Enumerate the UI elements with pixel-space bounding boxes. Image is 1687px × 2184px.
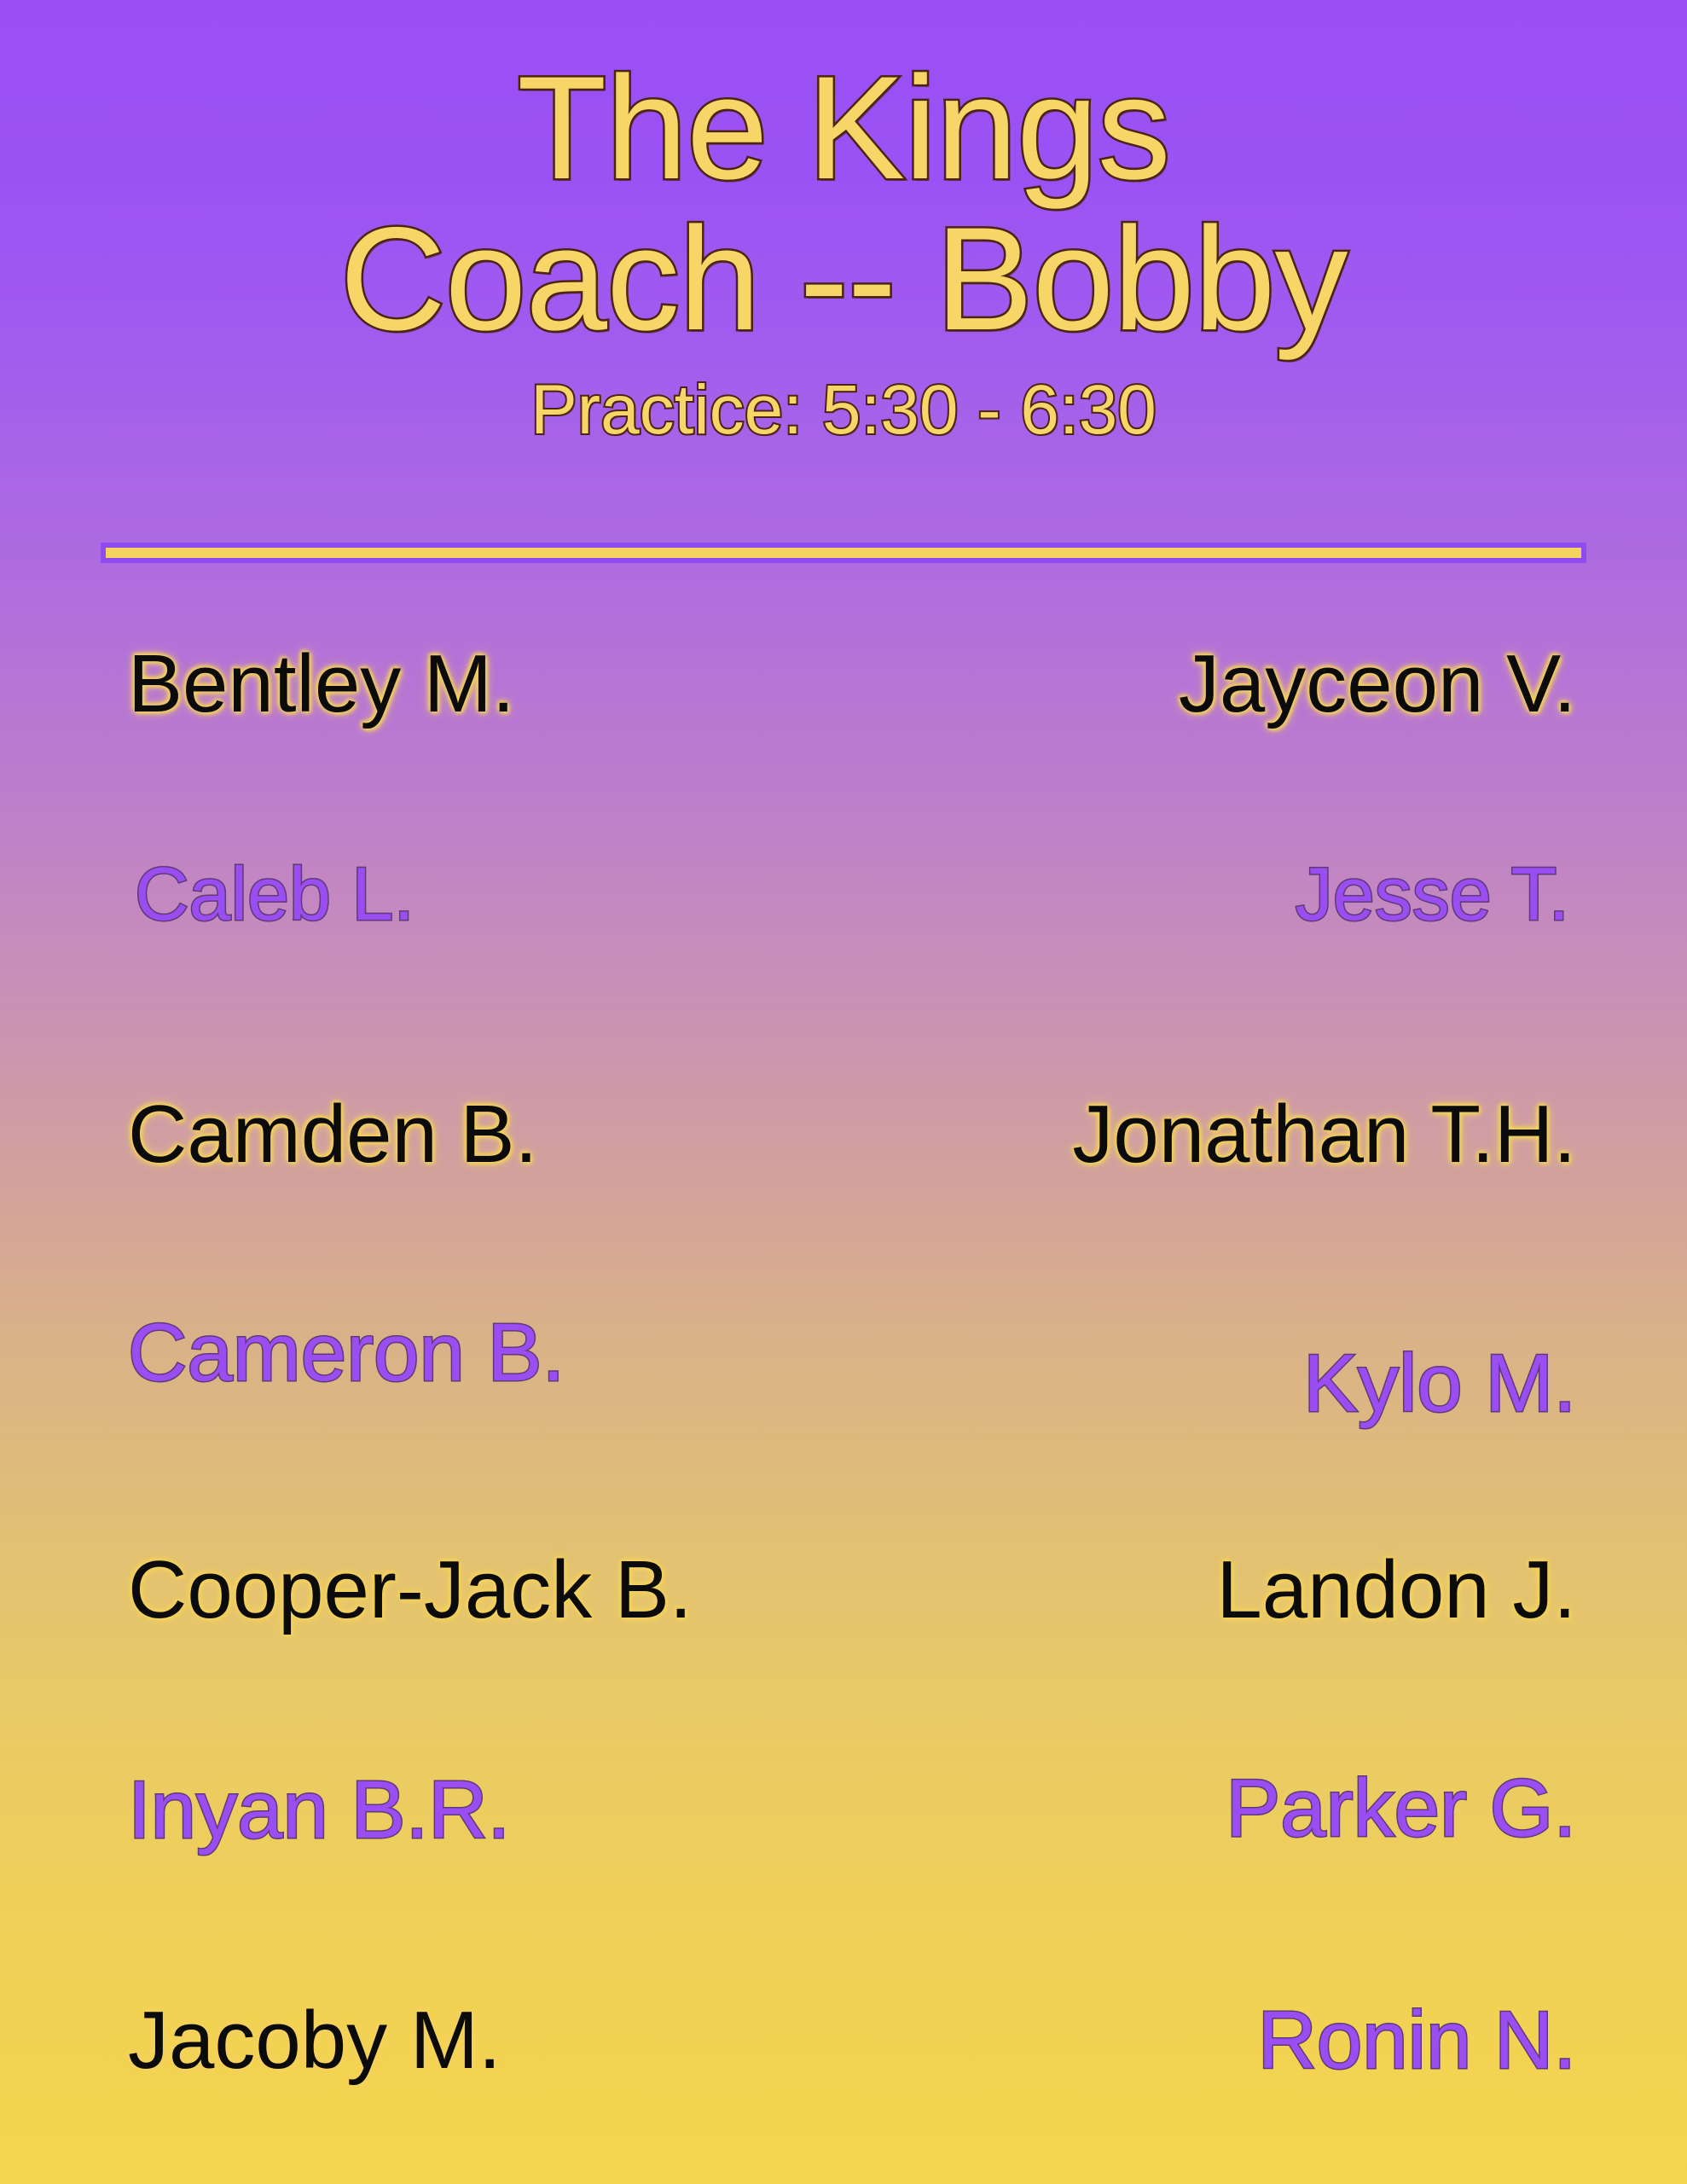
roster-name-right: Jayceon V. [1179,643,1576,725]
table-row: Cameron B. Kylo M. [0,1283,1687,1508]
roster-list: Bentley M. Jayceon V. Caleb L. Jesse T. … [0,607,1687,2184]
poster-header: The Kings Coach -- Bobby Practice: 5:30 … [0,0,1687,447]
roster-name-left: Cooper-Jack B. [128,1549,693,1631]
table-row: Inyan B.R. Parker G. [0,1734,1687,1959]
header-divider-wrap [101,543,1586,563]
table-row: Camden B. Jonathan T.H. [0,1058,1687,1283]
roster-name-right: Jonathan T.H. [1072,1094,1576,1176]
roster-name-right: Parker G. [1226,1768,1576,1850]
table-row: Jacoby M. Ronin N. [0,1959,1687,2184]
table-row: Cooper-Jack B. Landon J. [0,1508,1687,1734]
roster-name-left: Caleb L. [135,857,415,932]
page-title: The Kings Coach -- Bobby [0,0,1687,355]
roster-name-left: Camden B. [128,1094,537,1176]
table-row: Bentley M. Jayceon V. [0,607,1687,833]
roster-name-left: Bentley M. [128,643,515,725]
practice-time-subtitle: Practice: 5:30 - 6:30 [0,355,1687,447]
roster-name-left: Inyan B.R. [128,1769,510,1851]
roster-name-right: Ronin N. [1258,2000,1577,2082]
header-divider [101,543,1586,563]
table-row: Caleb L. Jesse T. [0,833,1687,1058]
roster-name-left: Cameron B. [128,1312,565,1394]
roster-name-left: Jacoby M. [128,2000,501,2082]
roster-name-right: Jesse T. [1296,857,1569,932]
roster-name-right: Landon J. [1216,1549,1576,1631]
roster-name-right: Kylo M. [1303,1343,1576,1425]
team-roster-poster: The Kings Coach -- Bobby Practice: 5:30 … [0,0,1687,2184]
